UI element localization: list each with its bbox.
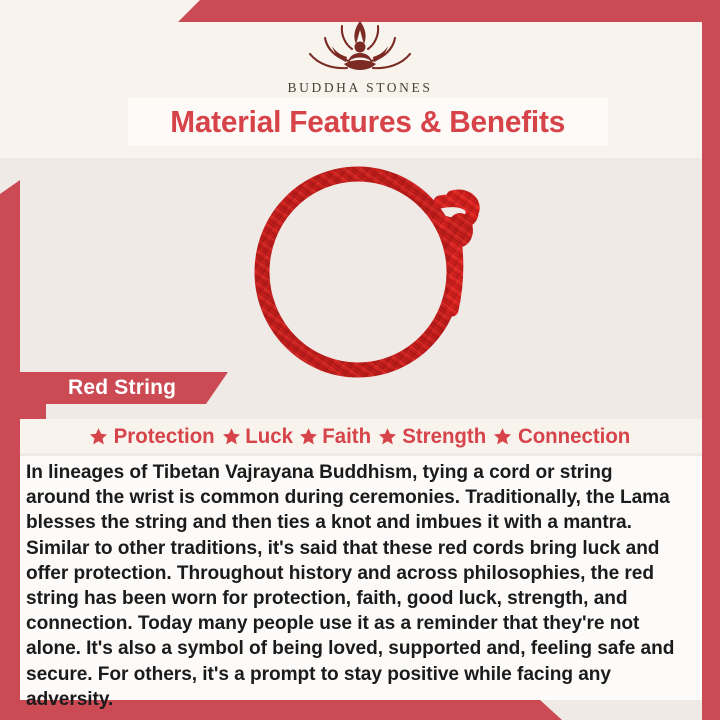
star-icon — [493, 427, 512, 446]
frame-left-bar — [0, 180, 20, 720]
benefit-item: Connection — [493, 424, 633, 449]
benefit-label: Strength — [402, 424, 486, 449]
benefit-label: Connection — [518, 424, 630, 449]
star-icon — [378, 427, 397, 446]
headline-band: Material Features & Benefits — [128, 98, 608, 146]
star-icon — [299, 427, 318, 446]
benefit-item: Faith — [299, 424, 372, 449]
page-title: Material Features & Benefits — [171, 104, 566, 140]
product-image — [228, 152, 504, 380]
lotus-meditation-figure-icon — [301, 18, 419, 78]
description-text: In lineages of Tibetan Vajrayana Buddhis… — [26, 460, 678, 712]
benefit-label: Luck — [245, 424, 293, 449]
benefit-label: Protection — [113, 424, 214, 449]
benefits-row: Protection Luck Faith S — [20, 419, 702, 453]
star-icon — [89, 427, 108, 446]
benefit-item: Strength — [378, 424, 488, 449]
benefit-item: Protection — [89, 424, 217, 449]
brand-name: BUDDHA STONES — [0, 80, 720, 96]
star-icon — [222, 427, 241, 446]
benefit-label: Faith — [323, 424, 372, 449]
brand-logo: BUDDHA STONES — [0, 18, 720, 96]
product-label-ribbon: Red String — [20, 372, 228, 404]
benefit-item: Luck — [222, 424, 294, 449]
description-panel: In lineages of Tibetan Vajrayana Buddhis… — [20, 456, 702, 700]
frame-right-bar — [702, 0, 720, 720]
product-label-text: Red String — [68, 376, 176, 400]
product-infographic-poster: BUDDHA STONES Material Features & Benefi… — [0, 0, 720, 720]
